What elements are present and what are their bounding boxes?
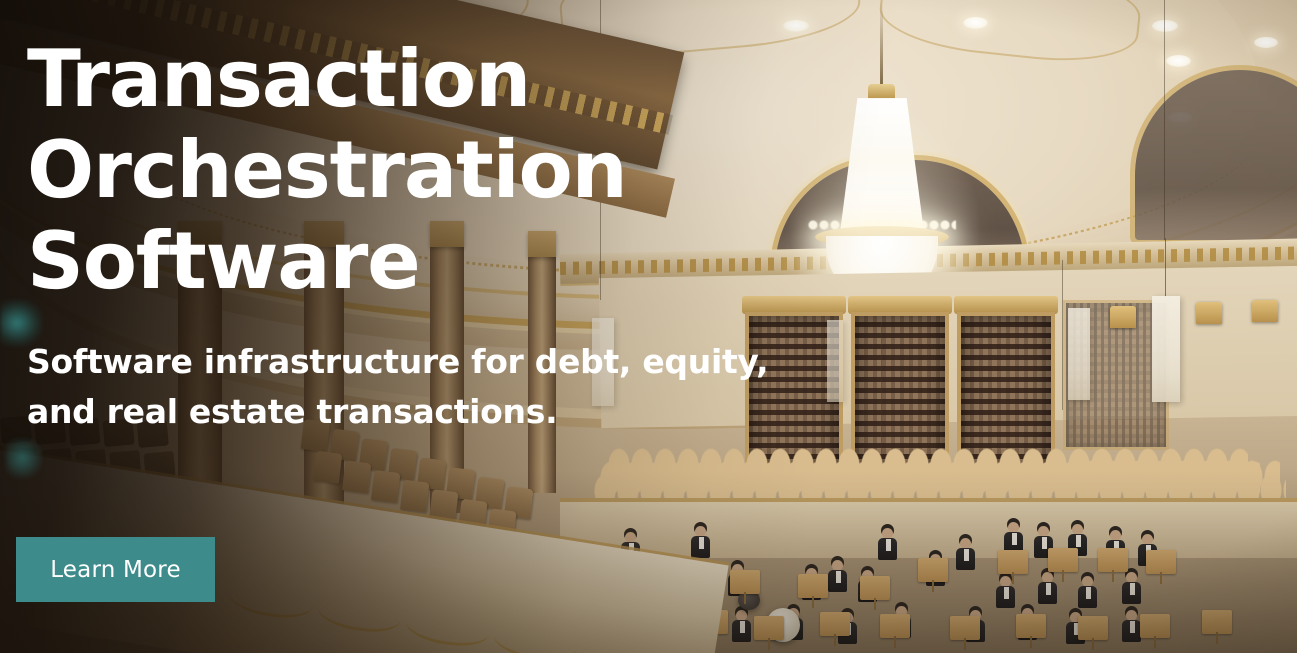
learn-more-button[interactable]: Learn More: [16, 537, 215, 602]
hero-content: Transaction Orchestration Software Softw…: [0, 0, 1297, 653]
hero-subheadline: Software infrastructure for debt, equity…: [27, 337, 827, 437]
hero-headline: Transaction Orchestration Software: [27, 34, 807, 307]
hero-section: Transaction Orchestration Software Softw…: [0, 0, 1297, 653]
